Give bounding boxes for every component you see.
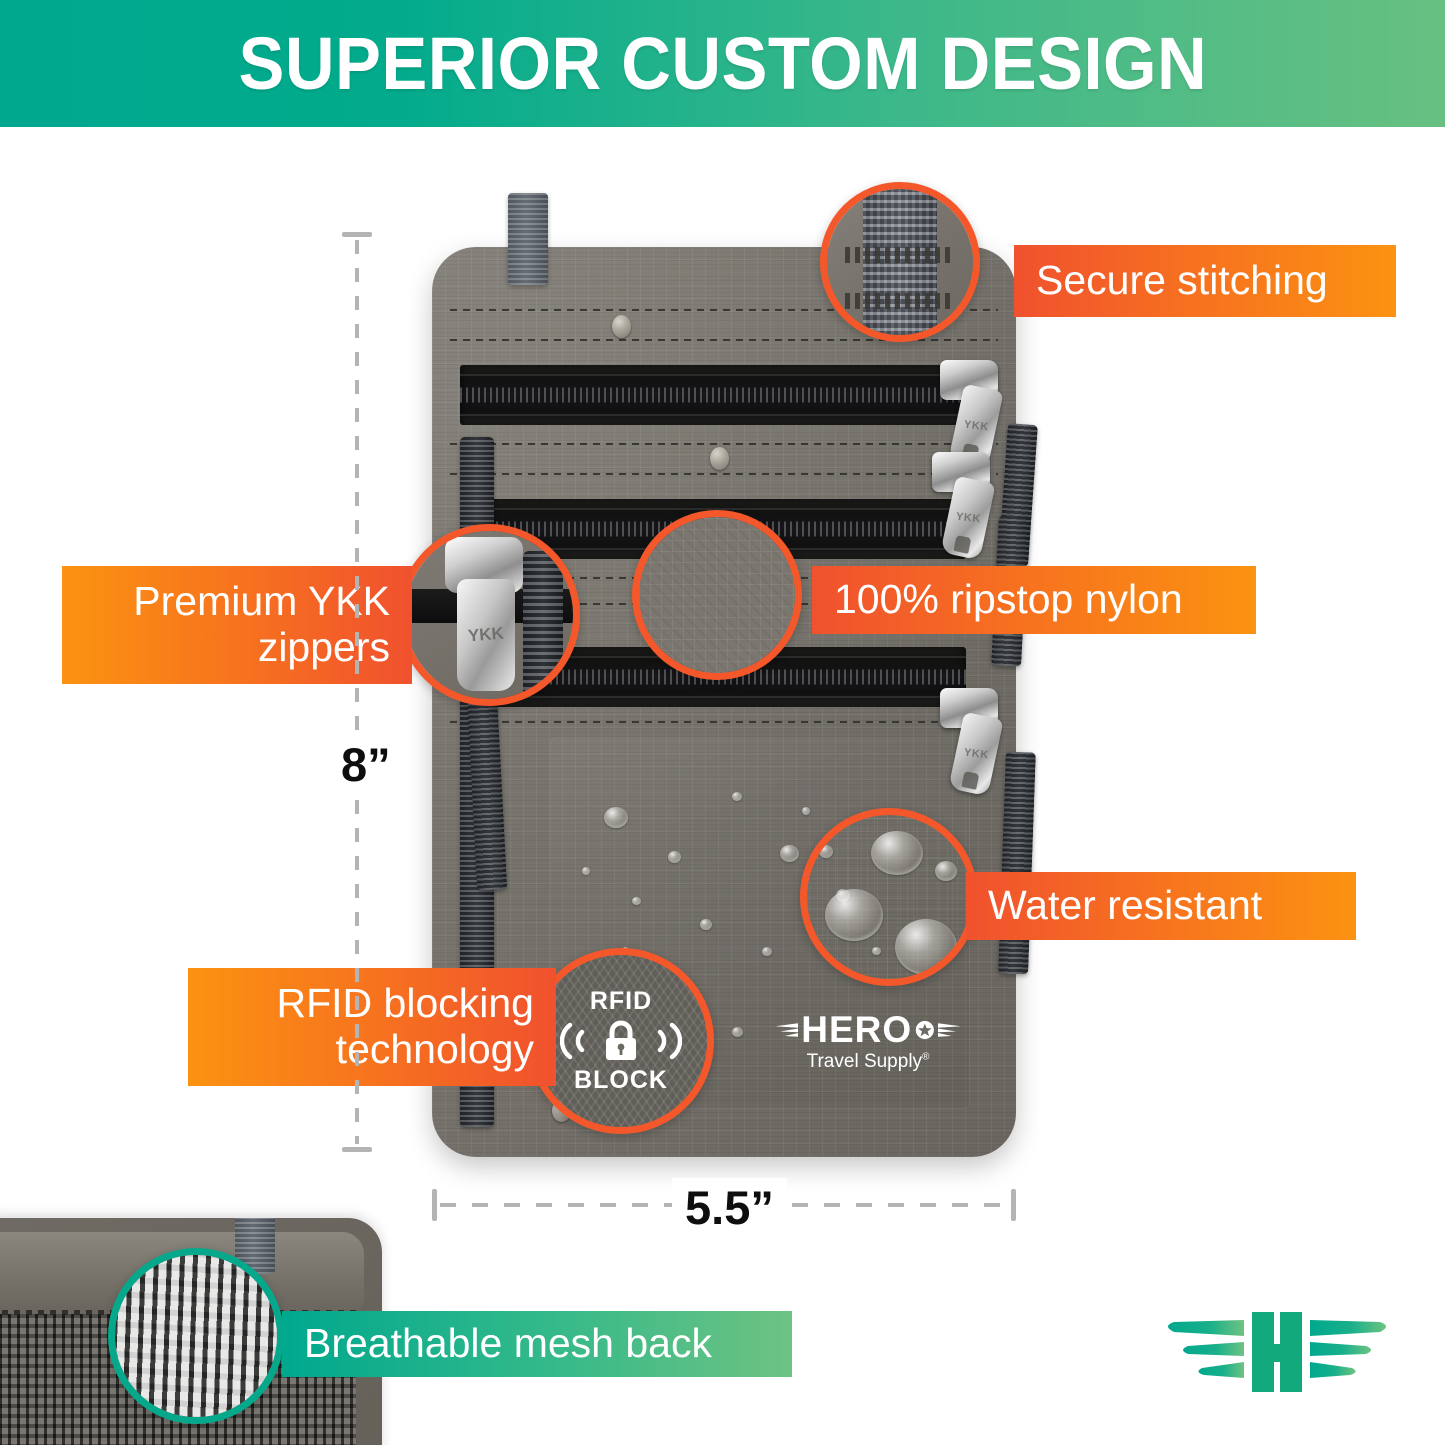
water-droplet [668, 851, 681, 863]
neck-strap-loop-left [508, 193, 548, 285]
rfid-top-text: RFID [590, 989, 652, 1014]
zipper-closeup: YKK [405, 531, 573, 699]
page-title: SUPERIOR CUSTOM DESIGN [238, 21, 1207, 106]
rfid-bottom-text: BLOCK [574, 1068, 668, 1093]
snap-rivet [710, 447, 729, 470]
water-beading-closeup [807, 815, 971, 979]
mesh-weave-closeup [115, 1255, 277, 1417]
water-droplet [935, 861, 957, 881]
magnifier-breathable-mesh [108, 1248, 284, 1424]
wings-icon [938, 1017, 968, 1043]
water-droplet [780, 845, 799, 862]
infographic-canvas: SUPERIOR CUSTOM DESIGN [0, 0, 1445, 1445]
callout-label-line2: zippers [258, 625, 390, 671]
callout-label: 100% ripstop nylon [834, 577, 1183, 623]
magnifier-ripstop-nylon [632, 510, 802, 680]
water-droplet [700, 919, 712, 930]
magnifier-ykk-zipper: YKK [398, 524, 580, 706]
callout-rfid-blocking[interactable]: RFID blocking technology [188, 968, 556, 1086]
brand-name: HERO [801, 1011, 912, 1048]
zipper-pull-bottom: YKK [940, 688, 1002, 800]
bartack-stitch [845, 247, 956, 263]
dimension-height [355, 232, 357, 1152]
dimension-cap [432, 1189, 437, 1221]
wings-icon [768, 1017, 798, 1043]
ykk-mark: YKK [467, 623, 505, 646]
water-droplet [732, 792, 742, 801]
dimension-cap [342, 1147, 372, 1152]
ripstop-weave-closeup [639, 517, 795, 673]
seam-line [450, 473, 998, 475]
dimension-cap [1011, 1189, 1016, 1221]
zipper-track [460, 365, 966, 425]
callout-secure-stitching[interactable]: Secure stitching [1014, 245, 1396, 317]
rfid-icon-row [560, 1018, 682, 1064]
product-brand-print: HERO Travel Supply® [768, 1011, 968, 1074]
brand-wordmark: HERO [768, 1011, 968, 1048]
water-droplet [802, 807, 810, 815]
snap-rivet [612, 315, 631, 338]
ykk-mark: YKK [963, 419, 989, 434]
water-droplet [871, 831, 923, 875]
callout-label: Breathable mesh back [304, 1321, 712, 1367]
callout-premium-ykk-zippers[interactable]: Premium YKK zippers [62, 566, 412, 684]
water-droplet [895, 919, 957, 975]
magnifier-secure-stitching [820, 182, 980, 342]
callout-label-line2: technology [336, 1027, 534, 1073]
hero-logo: H [1148, 1292, 1406, 1412]
lanyard-closeup [523, 551, 563, 706]
ykk-mark: YKK [963, 747, 989, 762]
water-droplet [819, 845, 833, 858]
stitching-closeup [827, 189, 973, 335]
callout-ripstop-nylon[interactable]: 100% ripstop nylon [812, 566, 1256, 634]
seam-line [450, 721, 998, 723]
callout-label: Water resistant [988, 883, 1262, 929]
callout-label: Secure stitching [1036, 258, 1328, 304]
dimension-cap [342, 232, 372, 237]
water-droplet [762, 947, 772, 956]
header-banner: SUPERIOR CUSTOM DESIGN [0, 0, 1445, 127]
brand-tagline: Travel Supply® [768, 1050, 968, 1074]
bartack-stitch [845, 293, 956, 309]
callout-breathable-mesh[interactable]: Breathable mesh back [282, 1311, 792, 1377]
water-droplet [582, 867, 590, 875]
signal-waves-left-icon [560, 1019, 594, 1063]
water-droplet [604, 807, 628, 828]
water-droplet [732, 1027, 743, 1037]
zipper-tab-closeup: YKK [457, 579, 515, 691]
hero-winged-h-logo: H [1148, 1292, 1406, 1412]
zipper-pull-middle: YKK [932, 452, 994, 564]
callout-label-line1: RFID blocking [277, 981, 534, 1027]
ykk-mark: YKK [955, 511, 981, 526]
zipper-lanyard [998, 752, 1036, 975]
magnifier-water-resistant [800, 808, 978, 986]
water-droplet [632, 897, 641, 905]
water-droplet [825, 889, 883, 941]
zipper-teeth [460, 388, 966, 403]
dimension-dashed-line [355, 240, 359, 1144]
dimension-width-label: 5.5” [672, 1178, 787, 1237]
dimension-height-label: 8” [328, 735, 404, 794]
callout-water-resistant[interactable]: Water resistant [966, 872, 1356, 940]
signal-waves-right-icon [648, 1019, 682, 1063]
padlock-icon [599, 1018, 643, 1064]
seam-line [450, 443, 998, 445]
rfid-badge: RFID BLOCK [535, 955, 707, 1127]
callout-label-line1: Premium YKK [133, 579, 390, 625]
star-icon [915, 1017, 935, 1043]
